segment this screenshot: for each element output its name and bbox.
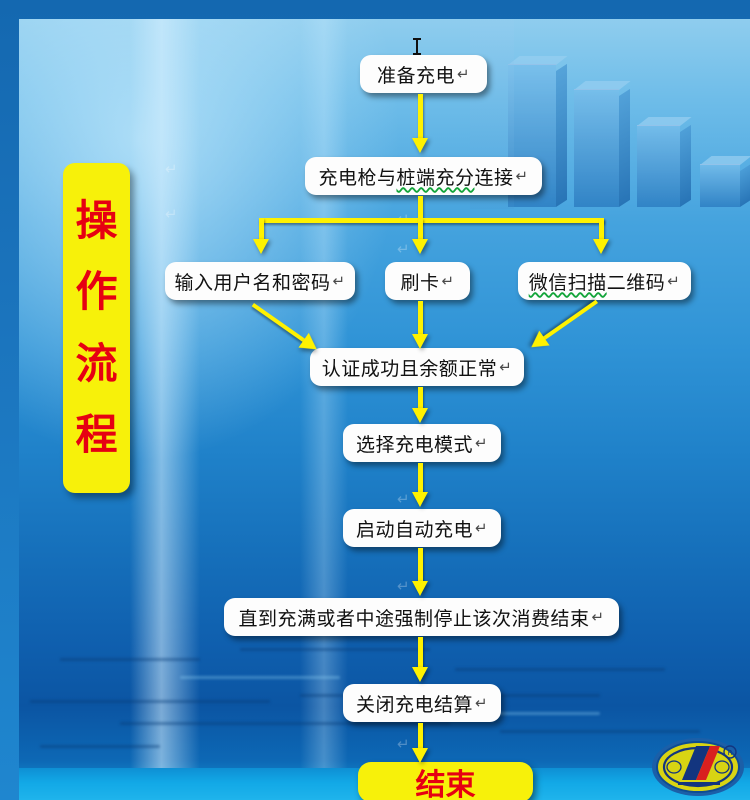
arrowhead-until-full-to-close bbox=[412, 667, 428, 682]
connector-n2-bus-stem bbox=[418, 196, 423, 220]
return-mark: ↵ bbox=[591, 608, 604, 626]
water-ripple bbox=[30, 700, 270, 703]
node-connect-gun[interactable]: 充电枪与桩端充分连接↵ bbox=[305, 157, 542, 195]
node-start-auto-charging[interactable]: 启动自动充电↵ bbox=[343, 509, 501, 547]
arrowhead-n1-n2 bbox=[412, 138, 428, 153]
building-2-face bbox=[574, 89, 619, 207]
node-end-terminator[interactable]: 结束 bbox=[358, 762, 533, 800]
connector-branch-bus bbox=[259, 218, 604, 223]
node-label-spellcheck: 微信扫描 bbox=[529, 268, 607, 295]
node-label: 直到充满或者中途强制停止该次消费结束 bbox=[238, 604, 589, 631]
connector-branch-left-drop bbox=[259, 218, 264, 241]
building-2-side bbox=[619, 89, 630, 207]
connector-until-full-to-close bbox=[418, 637, 423, 670]
water-ripple-highlight bbox=[180, 676, 340, 679]
node-label: 关闭充电结算 bbox=[356, 690, 473, 717]
node-swipe-card[interactable]: 刷卡↵ bbox=[385, 262, 470, 300]
node-label-spellcheck: 桩端充分 bbox=[396, 163, 474, 190]
node-label: 刷卡 bbox=[400, 268, 439, 295]
text-caret bbox=[416, 38, 418, 55]
connector-select-mode-to-start bbox=[418, 463, 423, 495]
water-ripple bbox=[455, 668, 665, 671]
building-3 bbox=[637, 125, 680, 207]
return-mark: ↵ bbox=[667, 272, 680, 290]
page-title-banner: 操 作 流 程 bbox=[63, 163, 130, 493]
terminator-label: 结束 bbox=[416, 760, 476, 800]
company-logo-icon: R bbox=[650, 736, 746, 798]
node-label: 选择充电模式 bbox=[356, 430, 473, 457]
return-mark: ↵ bbox=[441, 272, 454, 290]
connector-branch-right-drop bbox=[599, 218, 604, 241]
banner-char-2: 作 bbox=[75, 271, 117, 313]
node-label-2: 连接 bbox=[474, 163, 513, 190]
water-ripple bbox=[40, 745, 160, 748]
return-mark: ↵ bbox=[499, 358, 512, 376]
building-2 bbox=[574, 89, 619, 207]
arrowhead-select-mode-to-start bbox=[412, 492, 428, 507]
water-ripple bbox=[60, 658, 200, 661]
company-logo: R bbox=[650, 736, 746, 798]
node-input-username-password[interactable]: 输入用户名和密码↵ bbox=[165, 262, 355, 300]
connector-close-to-end bbox=[418, 723, 423, 751]
arrowhead-start-to-until-full bbox=[412, 581, 428, 596]
node-auth-success-balance-ok[interactable]: 认证成功且余额正常↵ bbox=[310, 348, 524, 386]
node-until-full-or-stopped[interactable]: 直到充满或者中途强制停止该次消费结束↵ bbox=[224, 598, 619, 636]
connector-swipe-card-to-auth bbox=[418, 301, 423, 337]
arrowhead-to-swipe-card bbox=[412, 239, 428, 254]
building-4-face bbox=[700, 164, 740, 207]
return-mark: ↵ bbox=[475, 519, 488, 537]
connector-branch-center-drop bbox=[418, 218, 423, 241]
arrowhead-swipe-card-to-auth bbox=[412, 334, 428, 349]
arrowhead-to-wechat-scan bbox=[593, 239, 609, 254]
flowchart-canvas: ↵ ↵ ↵ ↵ ↵ ↵ ↵ ↵ 操 作 流 程 准备充电↵ 充电枪与桩端充分连接… bbox=[0, 0, 750, 800]
banner-char-3: 流 bbox=[75, 343, 117, 385]
water-ripple bbox=[120, 722, 450, 725]
node-label: 输入用户名和密码 bbox=[174, 268, 330, 295]
water-ripple bbox=[240, 648, 430, 651]
node-wechat-scan-qr[interactable]: 微信扫描二维码↵ bbox=[518, 262, 691, 300]
return-mark: ↵ bbox=[515, 167, 528, 185]
return-mark: ↵ bbox=[457, 65, 470, 83]
water-ripple bbox=[500, 730, 700, 733]
arrowhead-to-input-username bbox=[253, 239, 269, 254]
arrowhead-auth-to-select-mode bbox=[412, 408, 428, 423]
node-prepare-charging[interactable]: 准备充电↵ bbox=[360, 55, 487, 93]
node-label: 充电枪与 bbox=[318, 163, 396, 190]
return-mark: ↵ bbox=[332, 272, 345, 290]
node-label: 准备充电 bbox=[377, 61, 455, 88]
building-3-face bbox=[637, 125, 680, 207]
node-select-charge-mode[interactable]: 选择充电模式↵ bbox=[343, 424, 501, 462]
arrowhead-close-to-end bbox=[412, 748, 428, 763]
connector-n1-n2 bbox=[418, 94, 423, 141]
registered-mark: R bbox=[728, 749, 733, 757]
return-mark: ↵ bbox=[475, 694, 488, 712]
connector-start-to-until-full bbox=[418, 548, 423, 584]
node-label: 启动自动充电 bbox=[356, 515, 473, 542]
building-3-side bbox=[680, 125, 691, 207]
banner-char-1: 操 bbox=[75, 200, 117, 242]
return-mark: ↵ bbox=[475, 434, 488, 452]
building-4 bbox=[700, 164, 740, 207]
building-1-side bbox=[556, 64, 567, 207]
banner-char-4: 程 bbox=[75, 414, 117, 456]
building-4-side bbox=[740, 164, 750, 207]
node-label: 认证成功且余额正常 bbox=[322, 354, 498, 381]
node-label-2: 二维码 bbox=[607, 268, 666, 295]
node-close-and-settle[interactable]: 关闭充电结算↵ bbox=[343, 684, 501, 722]
